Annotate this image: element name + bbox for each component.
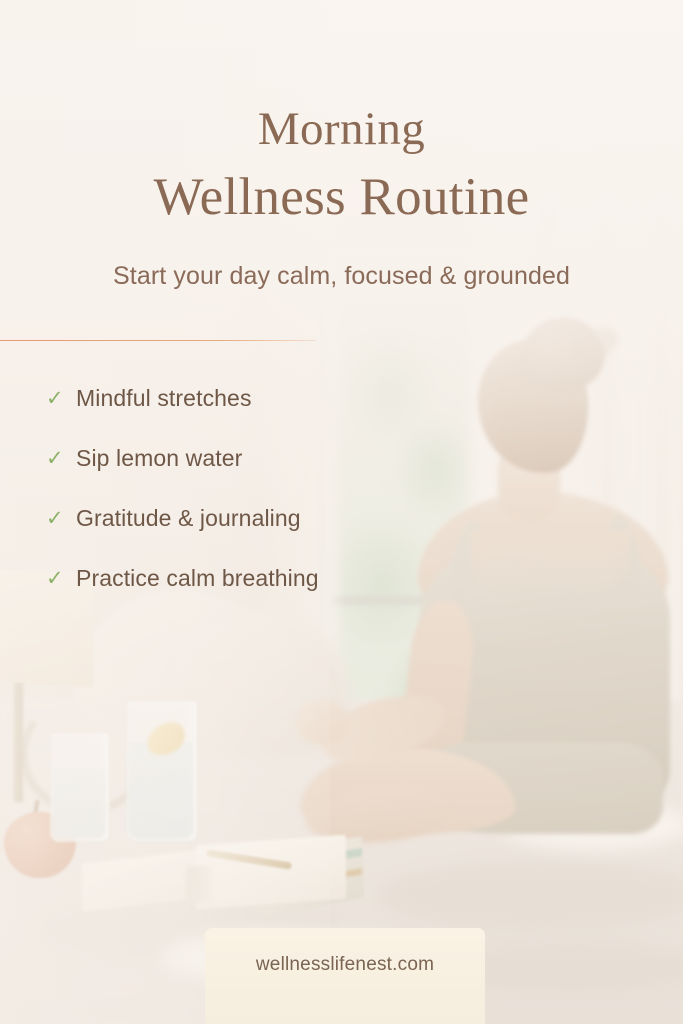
list-item: ✓ Mindful stretches bbox=[46, 370, 466, 426]
divider-rule bbox=[0, 340, 316, 341]
title-line-2: Wellness Routine bbox=[0, 171, 683, 224]
poster-content: Morning Wellness Routine Start your day … bbox=[0, 0, 683, 1024]
footer-badge: wellnesslifenest.com bbox=[205, 928, 485, 1024]
check-icon: ✓ bbox=[46, 448, 76, 469]
list-item-label: Sip lemon water bbox=[76, 445, 242, 472]
check-icon: ✓ bbox=[46, 508, 76, 529]
check-icon: ✓ bbox=[46, 388, 76, 409]
list-item-label: Mindful stretches bbox=[76, 385, 252, 412]
title-line-1: Morning bbox=[0, 106, 683, 153]
checklist: ✓ Mindful stretches ✓ Sip lemon water ✓ … bbox=[46, 370, 466, 610]
list-item: ✓ Practice calm breathing bbox=[46, 550, 466, 606]
list-item-label: Practice calm breathing bbox=[76, 565, 319, 592]
poster-canvas: Morning Wellness Routine Start your day … bbox=[0, 0, 683, 1024]
website-url: wellnesslifenest.com bbox=[256, 954, 434, 976]
check-icon: ✓ bbox=[46, 568, 76, 589]
list-item: ✓ Gratitude & journaling bbox=[46, 490, 466, 546]
page-subtitle: Start your day calm, focused & grounded bbox=[0, 262, 683, 291]
page-title: Morning Wellness Routine bbox=[0, 106, 683, 224]
list-item-label: Gratitude & journaling bbox=[76, 505, 301, 532]
list-item: ✓ Sip lemon water bbox=[46, 430, 466, 486]
